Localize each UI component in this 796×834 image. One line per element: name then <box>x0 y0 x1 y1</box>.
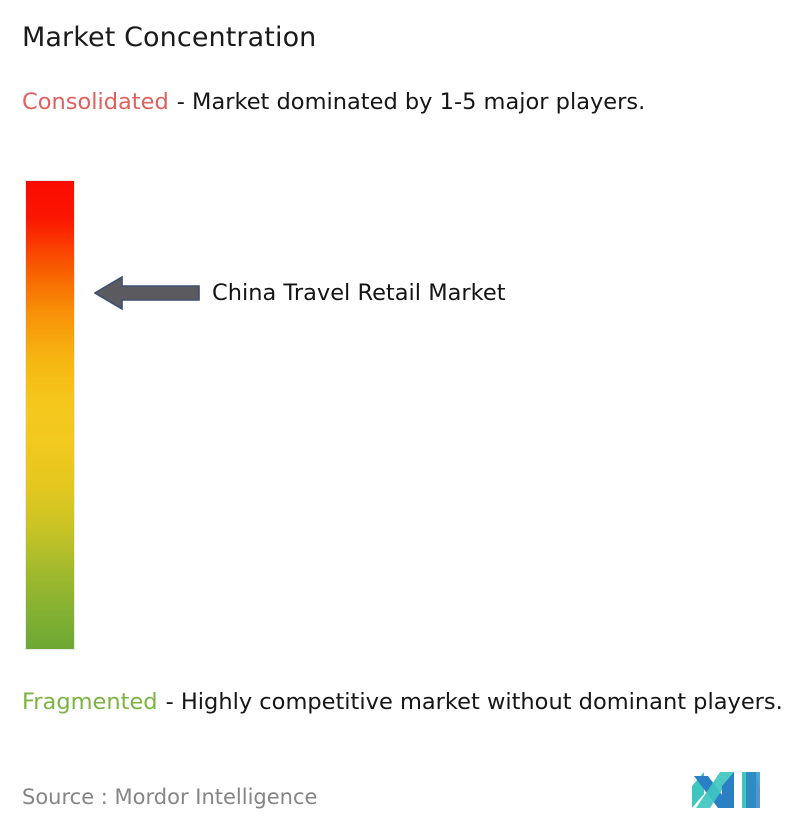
fragmented-descriptor: Fragmented- Highly competitive market wi… <box>22 686 790 718</box>
market-concentration-chart: Market Concentration Consolidated- Marke… <box>0 0 796 834</box>
consolidated-descriptor: Consolidated- Market dominated by 1-5 ma… <box>22 86 782 118</box>
fragmented-keyword: Fragmented <box>22 689 158 715</box>
fragmented-text: Highly competitive market without domina… <box>181 689 783 715</box>
consolidated-text: Market dominated by 1-5 major players. <box>192 89 645 115</box>
arrow-left-icon <box>95 277 199 309</box>
concentration-scale-bar <box>25 180 75 650</box>
consolidated-separator: - <box>177 89 185 115</box>
market-pointer-arrow <box>94 273 200 313</box>
page-title: Market Concentration <box>22 20 316 56</box>
source-attribution: Source : Mordor Intelligence <box>22 783 317 811</box>
consolidated-keyword: Consolidated <box>22 89 169 115</box>
market-pointer-label: China Travel Retail Market <box>212 278 506 308</box>
mordor-intelligence-logo <box>690 770 780 812</box>
fragmented-separator: - <box>166 689 174 715</box>
